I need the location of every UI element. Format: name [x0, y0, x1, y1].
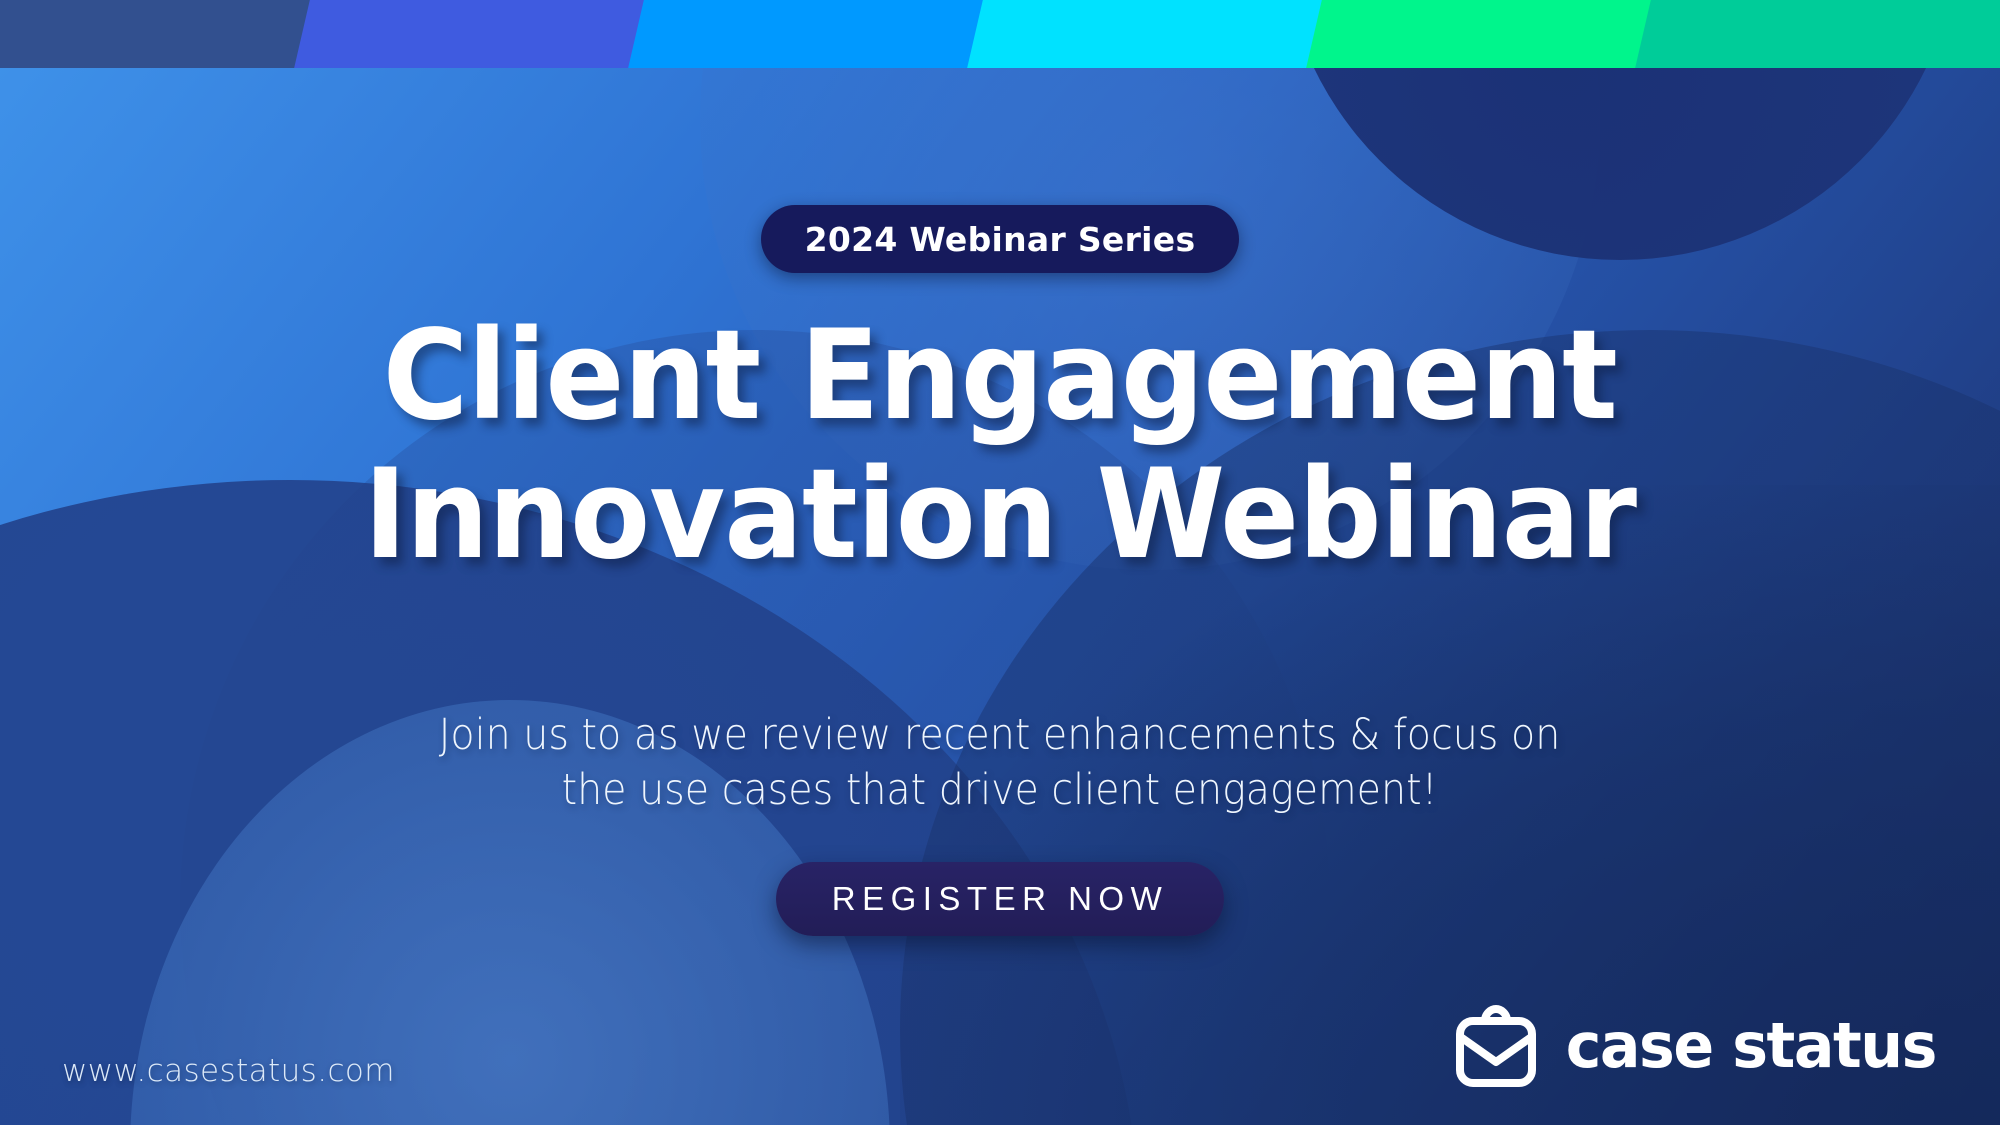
- series-badge: 2024 Webinar Series: [761, 205, 1240, 273]
- briefcase-envelope-icon: [1454, 1005, 1538, 1087]
- page-title-line-2: Innovation Webinar: [364, 446, 1636, 585]
- page-title: Client Engagement Innovation Webinar: [364, 307, 1636, 585]
- page-title-line-1: Client Engagement: [364, 307, 1636, 446]
- page-subtitle-line-1: Join us to as we review recent enhanceme…: [439, 708, 1561, 763]
- website-url[interactable]: www.casestatus.com: [62, 1053, 395, 1089]
- register-now-button[interactable]: REGISTER NOW: [776, 862, 1225, 936]
- page-subtitle-line-2: the use cases that drive client engageme…: [439, 763, 1561, 818]
- page-subtitle: Join us to as we review recent enhanceme…: [439, 708, 1561, 818]
- content-stack: 2024 Webinar Series Client Engagement In…: [0, 0, 2000, 1125]
- brand-logo: case status: [1454, 1005, 1942, 1087]
- brand-wordmark: case status: [1566, 1015, 1936, 1077]
- promo-banner: 2024 Webinar Series Client Engagement In…: [0, 0, 2000, 1125]
